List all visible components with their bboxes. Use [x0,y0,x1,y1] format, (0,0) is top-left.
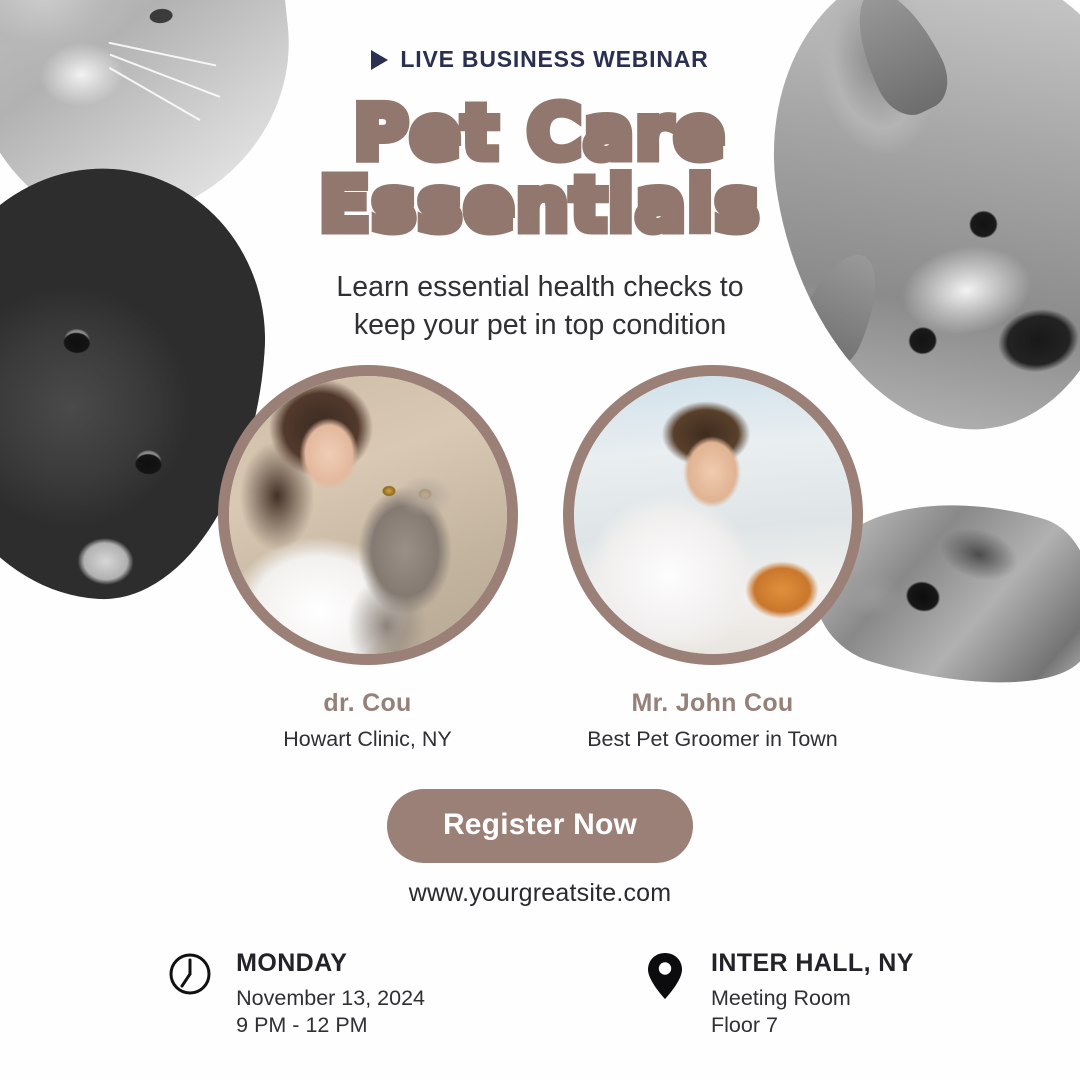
avatar [563,365,863,665]
subtitle: Learn essential health checks to keep yo… [0,268,1080,344]
speaker-role: Howart Clinic, NY [283,727,451,752]
eyebrow-label: LIVE BUSINESS WEBINAR [400,46,708,73]
date-heading: MONDAY [236,949,425,978]
woman-holding-gray-cat-photo [229,376,507,654]
speaker-name: Mr. John Cou [632,689,794,718]
man-with-orange-cat-photo [574,376,852,654]
play-triangle-icon [371,50,388,70]
venue-line-1: Meeting Room [711,985,914,1013]
date-line-1: November 13, 2024 [236,985,425,1013]
speaker-card: Mr. John Cou Best Pet Groomer in Town [563,365,863,752]
cta-section: Register Now [0,789,1080,863]
subtitle-line-1: Learn essential health checks to [336,271,743,303]
clock-icon [166,949,214,1001]
speaker-role: Best Pet Groomer in Town [587,727,838,752]
speaker-name: dr. Cou [323,689,411,718]
website-url[interactable]: www.yourgreatsite.com [0,879,1080,908]
footer: MONDAY November 13, 2024 9 PM - 12 PM IN… [0,949,1080,1040]
subtitle-line-2: keep your pet in top condition [354,309,726,341]
speakers-row: dr. Cou Howart Clinic, NY Mr. John Cou B… [0,365,1080,752]
venue-line-2: Floor 7 [711,1012,914,1040]
eyebrow-banner: LIVE BUSINESS WEBINAR [0,46,1080,73]
register-now-button[interactable]: Register Now [387,789,693,863]
title-line-2: Essentials [0,170,1080,242]
date-line-2: 9 PM - 12 PM [236,1012,425,1040]
venue-heading: INTER HALL, NY [711,949,914,978]
page-title: Pet Care Essentials [0,98,1080,242]
avatar [218,365,518,665]
speaker-card: dr. Cou Howart Clinic, NY [218,365,518,752]
date-info-block: MONDAY November 13, 2024 9 PM - 12 PM [166,949,425,1040]
title-line-1: Pet Care [0,98,1080,170]
map-pin-icon [641,949,689,1001]
venue-info-block: INTER HALL, NY Meeting Room Floor 7 [641,949,914,1040]
webinar-poster: LIVE BUSINESS WEBINAR Pet Care Essential… [0,0,1080,1080]
